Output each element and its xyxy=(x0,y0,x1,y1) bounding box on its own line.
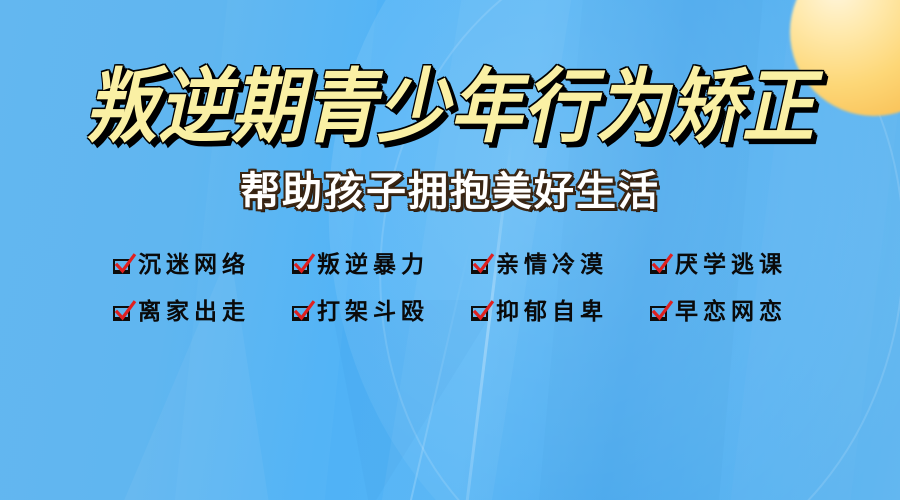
checklist-item-label: 亲情冷漠 xyxy=(496,254,608,277)
checklist-item-2-2[interactable]: 打架斗殴 xyxy=(292,301,429,324)
checklist-row-2: 离家出走 打架斗殴 抑郁自卑 早恋网恋 xyxy=(113,301,787,324)
checkbox-checked-icon[interactable] xyxy=(650,257,669,276)
checklist-item-2-4[interactable]: 早恋网恋 xyxy=(650,301,787,324)
checkbox-checked-icon[interactable] xyxy=(471,257,490,276)
checklist-item-1-1[interactable]: 沉迷网络 xyxy=(113,254,250,277)
checklist-item-label: 沉迷网络 xyxy=(138,254,250,277)
checkbox-checked-icon[interactable] xyxy=(471,304,490,323)
checklist-item-label: 厌学逃课 xyxy=(675,254,787,277)
checkbox-checked-icon[interactable] xyxy=(113,304,132,323)
checkbox-checked-icon[interactable] xyxy=(650,304,669,323)
banner-title: 叛逆期青少年行为矫正 xyxy=(85,66,815,147)
checklist-item-label: 叛逆暴力 xyxy=(317,254,429,277)
banner-content: 叛逆期青少年行为矫正 帮助孩子拥抱美好生活 沉迷网络 叛逆暴力 亲情冷漠 xyxy=(0,0,900,500)
promo-banner: 叛逆期青少年行为矫正 帮助孩子拥抱美好生活 沉迷网络 叛逆暴力 亲情冷漠 xyxy=(0,0,900,500)
banner-subtitle: 帮助孩子拥抱美好生活 xyxy=(240,172,660,212)
checklist-item-label: 抑郁自卑 xyxy=(496,301,608,324)
checkbox-checked-icon[interactable] xyxy=(292,257,311,276)
checklist-item-2-1[interactable]: 离家出走 xyxy=(113,301,250,324)
checklist-item-2-3[interactable]: 抑郁自卑 xyxy=(471,301,608,324)
checklist-row-1: 沉迷网络 叛逆暴力 亲情冷漠 厌学逃课 xyxy=(113,254,787,277)
checklist: 沉迷网络 叛逆暴力 亲情冷漠 厌学逃课 xyxy=(113,254,787,324)
checklist-item-label: 早恋网恋 xyxy=(675,301,787,324)
checklist-item-label: 离家出走 xyxy=(138,301,250,324)
checkbox-checked-icon[interactable] xyxy=(113,257,132,276)
checklist-item-1-3[interactable]: 亲情冷漠 xyxy=(471,254,608,277)
checklist-item-label: 打架斗殴 xyxy=(317,301,429,324)
checklist-item-1-2[interactable]: 叛逆暴力 xyxy=(292,254,429,277)
checklist-item-1-4[interactable]: 厌学逃课 xyxy=(650,254,787,277)
checkbox-checked-icon[interactable] xyxy=(292,304,311,323)
